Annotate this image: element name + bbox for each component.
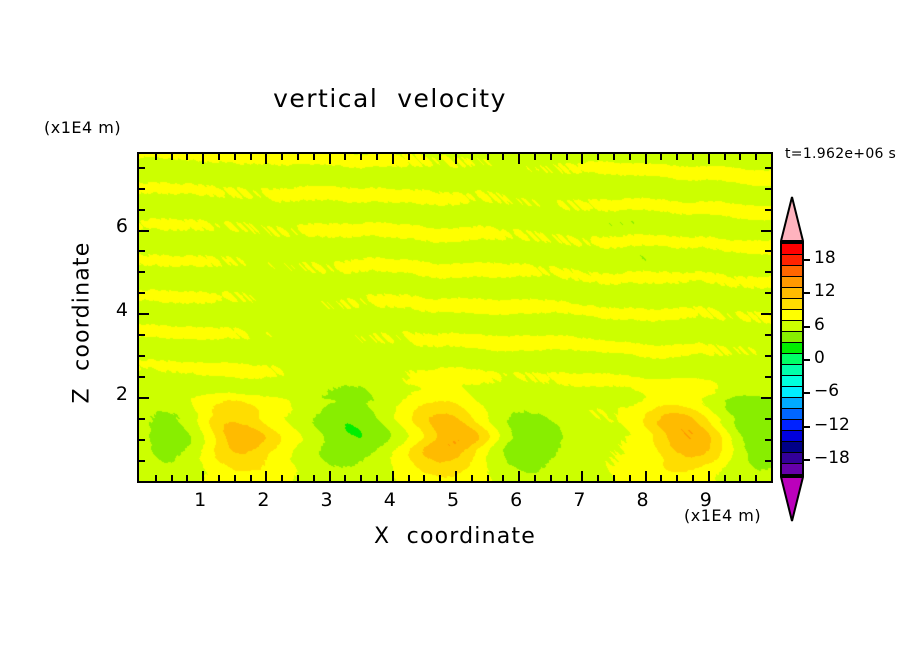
x-tick-label: 1: [180, 489, 220, 511]
axis-tick: [755, 475, 757, 481]
x-tick-label: 6: [496, 489, 536, 511]
axis-tick: [761, 313, 771, 315]
colorbar-tick: [804, 426, 810, 428]
axis-tick: [139, 376, 145, 378]
axis-tick: [250, 154, 252, 160]
axis-tick: [566, 154, 568, 160]
x-tick-label: 8: [623, 489, 663, 511]
colorbar-bands: [780, 242, 804, 476]
z-axis-unit-label: (x1E4 m): [44, 118, 121, 137]
timestamp-label: t=1.962e+06 s: [785, 146, 896, 162]
axis-tick: [502, 154, 504, 160]
axis-tick: [761, 230, 771, 232]
axis-tick: [724, 154, 726, 160]
colorbar-band: [782, 431, 802, 442]
colorbar-tick: [804, 292, 810, 294]
axis-tick: [186, 154, 188, 160]
axis-tick: [155, 154, 157, 160]
colorbar-tick: [804, 359, 810, 361]
colorbar-tick-label: 18: [814, 248, 836, 268]
axis-tick: [139, 397, 149, 399]
axis-tick: [765, 167, 771, 169]
axis-tick: [281, 475, 283, 481]
axis-tick: [439, 475, 441, 481]
axis-tick: [344, 154, 346, 160]
axis-tick: [765, 334, 771, 336]
axis-tick: [408, 475, 410, 481]
axis-tick: [739, 475, 741, 481]
colorbar-tick: [804, 392, 810, 394]
axis-tick: [408, 154, 410, 160]
axis-tick: [202, 154, 204, 164]
axis-tick: [360, 475, 362, 481]
axis-tick: [724, 475, 726, 481]
colorbar-tick-label: −6: [814, 381, 839, 401]
axis-tick: [708, 471, 710, 481]
colorbar-tick: [804, 459, 810, 461]
axis-tick: [676, 475, 678, 481]
axis-tick: [423, 475, 425, 481]
axis-tick: [765, 355, 771, 357]
axis-tick: [344, 475, 346, 481]
y-tick-label: 2: [88, 383, 128, 405]
colorbar-band: [782, 244, 802, 255]
contour-plot-area: [137, 152, 773, 483]
axis-tick: [765, 418, 771, 420]
axis-tick: [550, 154, 552, 160]
axis-tick: [250, 475, 252, 481]
colorbar-band: [782, 376, 802, 387]
axis-tick: [487, 475, 489, 481]
colorbar-tick: [804, 326, 810, 328]
axis-tick: [645, 154, 647, 164]
colorbar-band: [782, 387, 802, 398]
axis-tick: [534, 475, 536, 481]
axis-tick: [518, 471, 520, 481]
axis-tick: [376, 475, 378, 481]
axis-tick: [139, 418, 145, 420]
colorbar-tick-label: −12: [814, 415, 850, 435]
axis-tick: [629, 154, 631, 160]
axis-tick: [139, 313, 149, 315]
axis-tick: [660, 154, 662, 160]
axis-tick: [139, 209, 145, 211]
axis-tick: [171, 154, 173, 160]
colorbar-over-range-arrow-icon: [780, 196, 804, 242]
colorbar-under-range-arrow-icon: [780, 476, 804, 522]
colorbar-band: [782, 255, 802, 266]
colorbar-tick-label: −18: [814, 448, 850, 468]
colorbar-band: [782, 354, 802, 365]
axis-tick: [765, 439, 771, 441]
axis-tick: [171, 475, 173, 481]
axis-tick: [550, 475, 552, 481]
axis-tick: [765, 188, 771, 190]
colorbar-band: [782, 343, 802, 354]
axis-tick: [297, 154, 299, 160]
page-title: vertical velocity: [0, 84, 780, 113]
axis-tick: [139, 355, 145, 357]
x-tick-label: 4: [370, 489, 410, 511]
axis-tick: [376, 154, 378, 160]
y-tick-label: 6: [88, 215, 128, 237]
axis-tick: [329, 154, 331, 164]
colorbar-band: [782, 299, 802, 310]
axis-tick: [423, 154, 425, 160]
axis-tick: [313, 154, 315, 160]
axis-tick: [739, 154, 741, 160]
x-tick-label: 3: [307, 489, 347, 511]
axis-tick: [629, 475, 631, 481]
axis-tick: [265, 154, 267, 164]
colorbar-tick-label: 6: [814, 315, 825, 335]
colorbar-band: [782, 277, 802, 288]
x-tick-label: 7: [559, 489, 599, 511]
axis-tick: [676, 154, 678, 160]
axis-tick: [139, 250, 145, 252]
axis-tick: [139, 460, 145, 462]
axis-tick: [155, 475, 157, 481]
axis-tick: [613, 154, 615, 160]
axis-tick: [281, 154, 283, 160]
axis-tick: [765, 250, 771, 252]
axis-tick: [234, 475, 236, 481]
colorbar-band: [782, 442, 802, 453]
axis-tick: [139, 271, 145, 273]
colorbar-band: [782, 321, 802, 332]
colorbar-band: [782, 266, 802, 277]
axis-tick: [471, 154, 473, 160]
axis-tick: [360, 154, 362, 160]
axis-tick: [218, 154, 220, 160]
colorbar-tick: [804, 259, 810, 261]
colorbar-band: [782, 332, 802, 343]
axis-tick: [313, 475, 315, 481]
colorbar-band: [782, 288, 802, 299]
axis-tick: [487, 154, 489, 160]
axis-tick: [708, 154, 710, 164]
colorbar-band: [782, 420, 802, 431]
axis-tick: [455, 154, 457, 164]
colorbar-band: [782, 310, 802, 321]
y-tick-label: 4: [88, 299, 128, 321]
axis-tick: [218, 475, 220, 481]
axis-tick: [186, 475, 188, 481]
axis-tick: [613, 475, 615, 481]
axis-tick: [534, 154, 536, 160]
axis-tick: [455, 471, 457, 481]
axis-tick: [581, 154, 583, 164]
axis-tick: [765, 292, 771, 294]
x-tick-label: 5: [433, 489, 473, 511]
colorbar-band: [782, 464, 802, 474]
axis-tick: [139, 230, 149, 232]
axis-tick: [139, 292, 145, 294]
vertical-velocity-contour-field: [139, 154, 771, 481]
axis-tick: [755, 154, 757, 160]
axis-tick: [765, 460, 771, 462]
colorbar: 181260−6−12−18: [780, 196, 804, 522]
axis-tick: [439, 154, 441, 160]
axis-tick: [660, 475, 662, 481]
x-tick-label: 9: [686, 489, 726, 511]
axis-tick: [566, 475, 568, 481]
axis-tick: [471, 475, 473, 481]
axis-tick: [581, 471, 583, 481]
colorbar-tick-label: 12: [814, 281, 836, 301]
axis-tick: [518, 154, 520, 164]
axis-tick: [139, 439, 145, 441]
axis-tick: [765, 376, 771, 378]
axis-tick: [139, 188, 145, 190]
x-tick-label: 2: [243, 489, 283, 511]
axis-tick: [645, 471, 647, 481]
axis-tick: [392, 154, 394, 164]
axis-tick: [139, 334, 145, 336]
axis-tick: [692, 475, 694, 481]
axis-tick: [502, 475, 504, 481]
axis-tick: [265, 471, 267, 481]
axis-tick: [692, 154, 694, 160]
axis-tick: [765, 271, 771, 273]
colorbar-band: [782, 409, 802, 420]
colorbar-tick-label: 0: [814, 348, 825, 368]
axis-tick: [597, 154, 599, 160]
colorbar-band: [782, 453, 802, 464]
axis-tick: [202, 471, 204, 481]
colorbar-band: [782, 398, 802, 409]
axis-tick: [761, 397, 771, 399]
axis-tick: [329, 471, 331, 481]
colorbar-band: [782, 365, 802, 376]
x-axis-title: X coordinate: [137, 524, 773, 549]
axis-tick: [234, 154, 236, 160]
axis-tick: [297, 475, 299, 481]
axis-tick: [392, 471, 394, 481]
axis-tick: [597, 475, 599, 481]
axis-tick: [765, 209, 771, 211]
axis-tick: [139, 167, 145, 169]
